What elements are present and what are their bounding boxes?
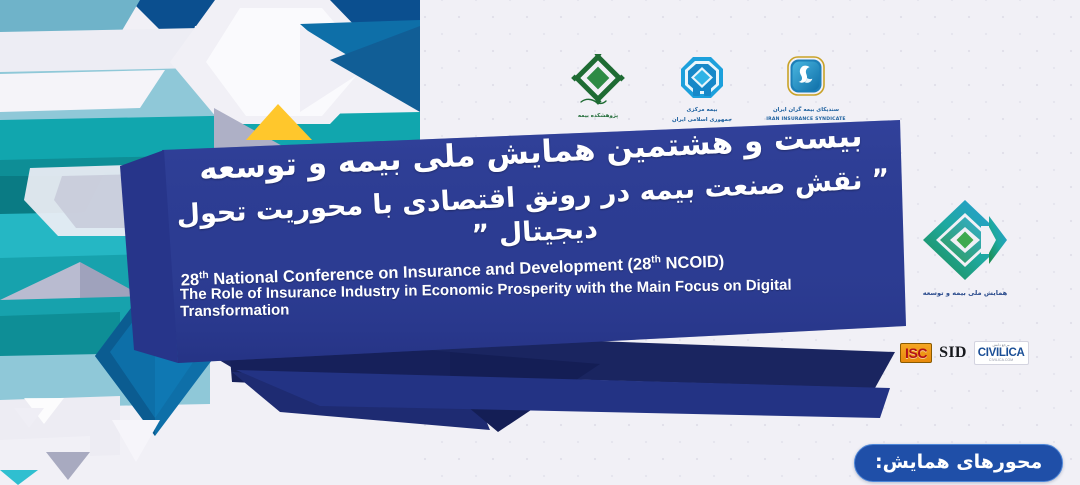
sponsor-caption-fa-3: پژوهشکده بیمه <box>578 113 618 120</box>
sponsor-caption-en-1: IRAN INSURANCE SYNDICATE <box>766 117 846 123</box>
central-insurance-iran-icon <box>676 54 728 104</box>
ribbon-svg <box>120 120 940 450</box>
conference-topics-pill[interactable]: محورهای همایش: <box>854 444 1063 482</box>
insurance-research-center-icon <box>569 54 627 110</box>
sponsor-caption-fa-1: سندیکای بیمه گران ایران <box>773 107 839 114</box>
conference-mark: همایش ملی بیمه و توسعه <box>905 196 1025 297</box>
sponsor-logo-row: سندیکای بیمه گران ایران IRAN INSURANCE S… <box>552 54 852 139</box>
badge-civilica-bottom: CIVILICA.COM <box>978 359 1025 362</box>
badge-isc[interactable]: ISC <box>900 343 932 363</box>
sponsor-insurance-research-center: پژوهشکده بیمه <box>552 54 644 120</box>
title-ribbon <box>120 120 940 450</box>
iran-insurance-syndicate-icon <box>783 54 829 104</box>
sponsor-caption-fa-2: بیمه مرکزی <box>686 107 717 114</box>
conference-mark-caption: همایش ملی بیمه و توسعه <box>923 289 1007 297</box>
badge-sid[interactable]: SID <box>939 344 967 362</box>
conference-banner: بیست و هشتمین همایش ملی بیمه و توسعه ” ن… <box>0 0 1080 485</box>
indexing-badge-row: ISC SID مرجع دانش CIVILICA CIVILICA.COM <box>900 341 1029 365</box>
sponsor-iran-insurance-syndicate: سندیکای بیمه گران ایران IRAN INSURANCE S… <box>760 54 852 122</box>
sponsor-caption-en-2: جمهوری اسلامی ایران <box>672 117 732 124</box>
badge-civilica[interactable]: مرجع دانش CIVILICA CIVILICA.COM <box>974 341 1029 365</box>
conference-diamond-icon <box>919 196 1011 284</box>
sponsor-central-insurance-iran: بیمه مرکزی جمهوری اسلامی ایران <box>656 54 748 124</box>
